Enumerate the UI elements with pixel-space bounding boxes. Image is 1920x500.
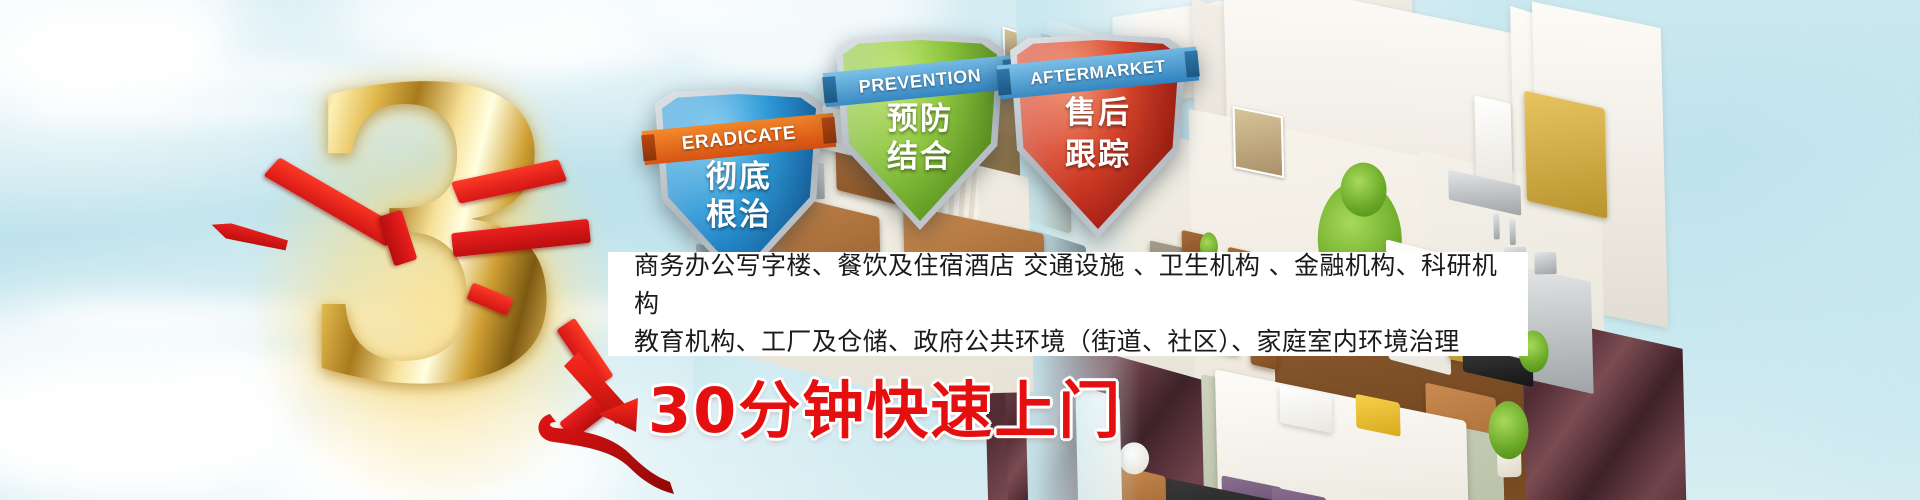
utensil (1509, 219, 1516, 245)
shield-label-cn-line2: 跟踪 (1010, 138, 1186, 171)
shield-label-cn-line1: 售后 (1010, 96, 1186, 129)
kitchen-wall-cabinet (1524, 91, 1607, 219)
kitchen-tall-unit (1474, 95, 1512, 185)
shield-label-cn-line1: 彻底 (655, 160, 823, 193)
shield-label-cn-line2: 根治 (655, 198, 823, 231)
service-scope-line-2: 教育机构、工厂及仓储、政府公共环境（街道、社区）、家庭室内环境治理 (634, 323, 1502, 361)
service-scope-line-1: 商务办公写字楼、餐饮及住宿酒店 交通设施 、卫生机构 、金融机构、科研机构 (634, 247, 1502, 323)
headline-text: 30分钟快速上门 (648, 360, 1122, 450)
shield-label-cn-line1: 预防 (836, 102, 1004, 135)
shield-aftermarket[interactable]: AFTERMARKET 售后 跟踪 (1010, 34, 1186, 238)
service-scope-panel: 商务办公写字楼、餐饮及住宿酒店 交通设施 、卫生机构 、金融机构、科研机构 教育… (608, 252, 1528, 356)
shield-prevention[interactable]: PREVENTION 预防 结合 (836, 34, 1004, 230)
kitchen-appliance (1534, 252, 1557, 275)
promotional-banner: 3 ERADICATE 彻 (0, 0, 1920, 500)
framed-picture (1232, 106, 1284, 178)
utensil (1493, 213, 1500, 239)
shield-label-cn-line2: 结合 (836, 140, 1004, 173)
